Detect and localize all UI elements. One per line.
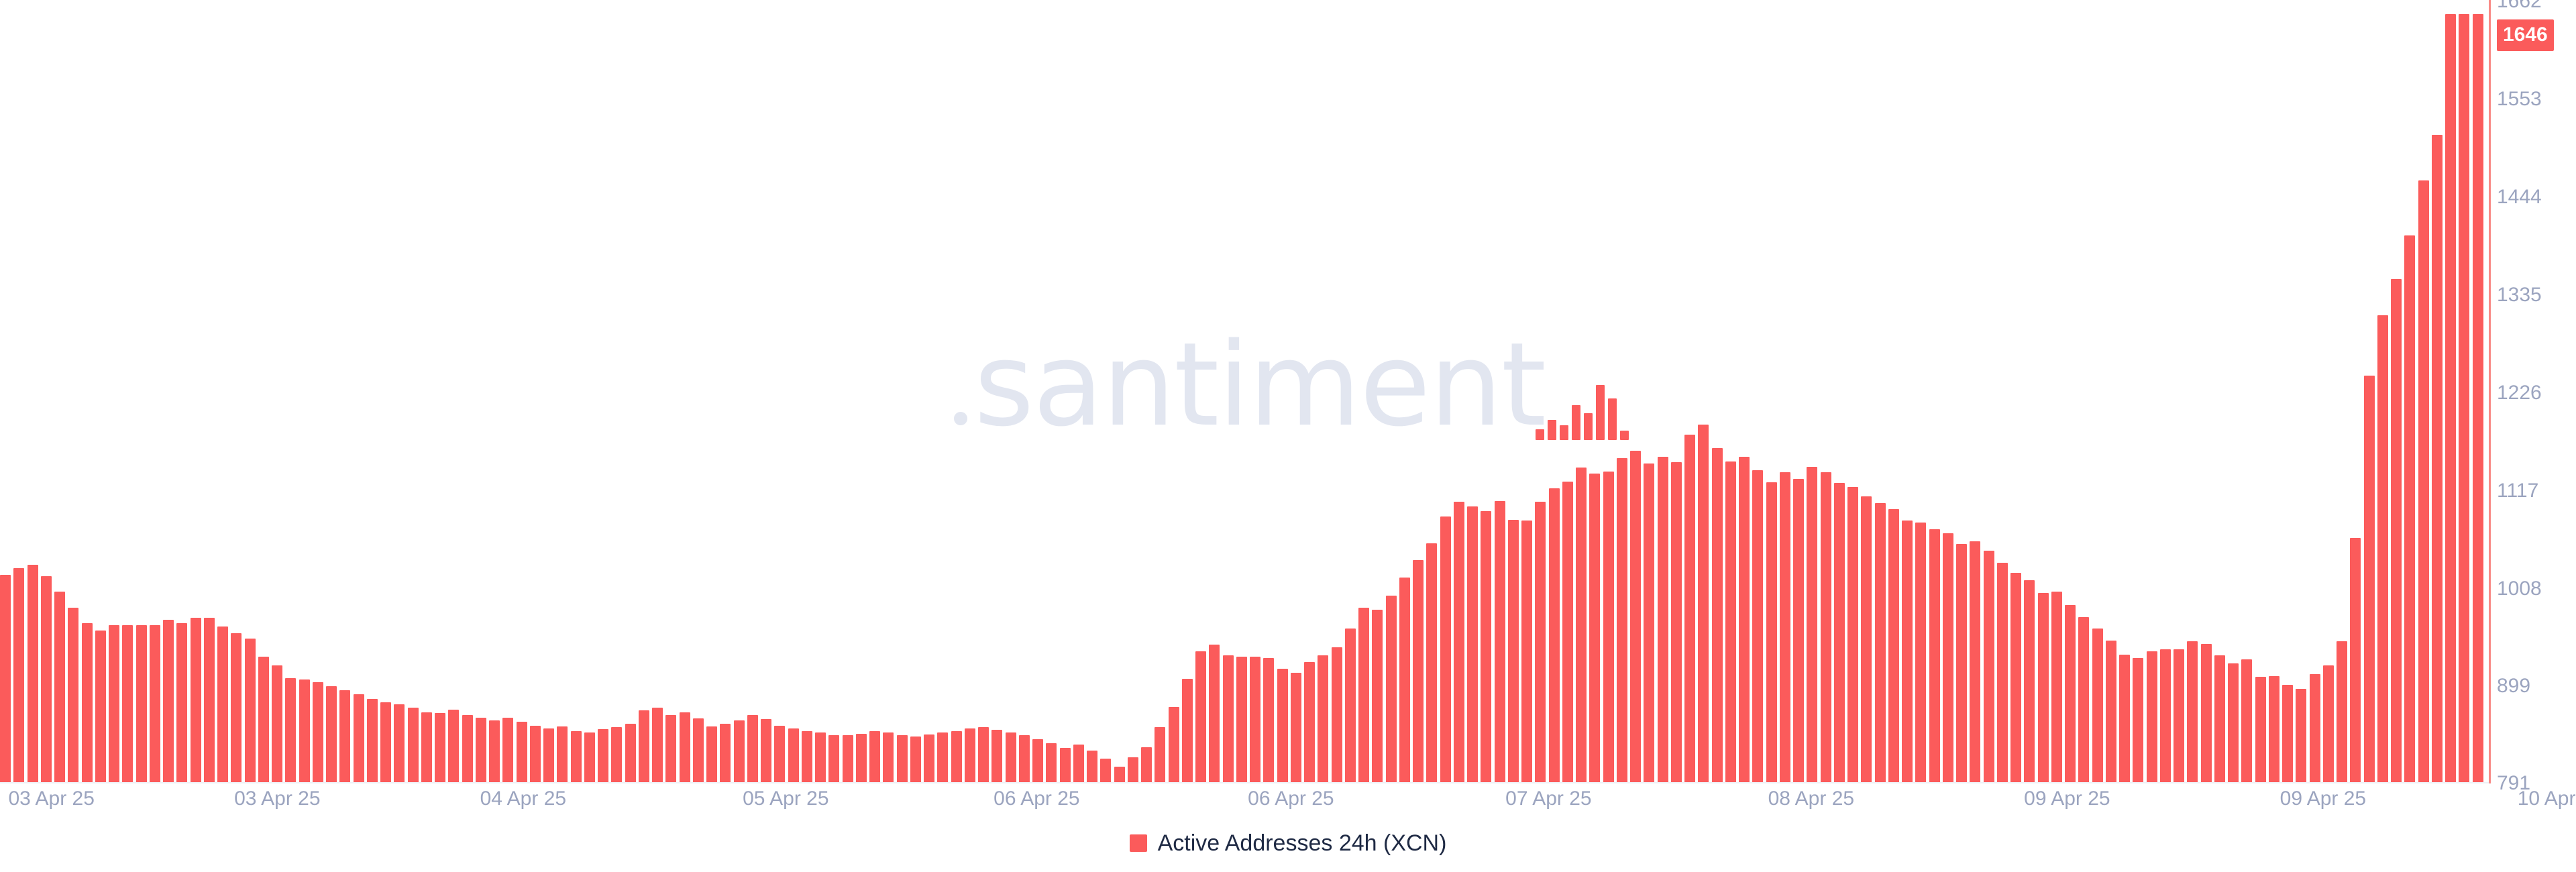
bar[interactable]	[448, 710, 459, 782]
bar[interactable]	[1508, 520, 1519, 782]
bar[interactable]	[339, 690, 350, 782]
bar[interactable]	[2255, 677, 2266, 782]
bar[interactable]	[1318, 655, 1328, 782]
bar[interactable]	[2459, 14, 2469, 782]
bar[interactable]	[2241, 659, 2252, 782]
bar[interactable]	[991, 730, 1002, 782]
bar[interactable]	[2201, 644, 2212, 782]
bar[interactable]	[1155, 727, 1165, 782]
bar[interactable]	[897, 735, 908, 782]
bar[interactable]	[1236, 657, 1247, 782]
bar[interactable]	[489, 720, 500, 782]
bar[interactable]	[761, 719, 771, 782]
bar[interactable]	[1875, 503, 1886, 782]
bar[interactable]	[299, 679, 310, 782]
bar[interactable]	[1984, 551, 1994, 782]
bar[interactable]	[978, 727, 989, 782]
bar[interactable]	[2038, 593, 2049, 782]
bar[interactable]	[204, 618, 215, 782]
bar[interactable]	[408, 708, 419, 782]
bar[interactable]	[1141, 747, 1152, 782]
bar[interactable]	[1032, 739, 1043, 782]
bar[interactable]	[476, 718, 486, 782]
bar[interactable]	[720, 724, 731, 782]
bar[interactable]	[828, 735, 839, 782]
plot-area: santiment	[0, 0, 2489, 782]
bar[interactable]	[1087, 751, 1097, 782]
bar[interactable]	[1766, 482, 1777, 782]
bar[interactable]	[1535, 502, 1546, 782]
bar[interactable]	[1467, 506, 1478, 782]
bar[interactable]	[1440, 516, 1451, 782]
bar[interactable]	[1073, 745, 1084, 782]
bar[interactable]	[1006, 732, 1016, 782]
x-axis-tick: 09 Apr 25	[2024, 789, 2110, 809]
bar[interactable]	[1223, 655, 1234, 782]
bar[interactable]	[1739, 457, 1750, 782]
bar[interactable]	[1209, 645, 1220, 782]
bar[interactable]	[394, 704, 405, 782]
bar[interactable]	[815, 732, 826, 782]
bar[interactable]	[693, 718, 704, 782]
bar[interactable]	[2228, 663, 2239, 782]
bar[interactable]	[1358, 608, 1369, 782]
bar[interactable]	[2377, 315, 2388, 782]
bar[interactable]	[584, 732, 595, 782]
bar[interactable]	[2160, 649, 2171, 782]
bar[interactable]	[1250, 657, 1260, 782]
bar[interactable]	[1793, 479, 1804, 782]
x-axis-tick: 10 Apr 25	[2518, 789, 2576, 809]
bar[interactable]	[924, 734, 934, 782]
bar[interactable]	[1169, 707, 1179, 782]
bar[interactable]	[380, 702, 391, 782]
bar[interactable]	[1603, 472, 1614, 782]
bar[interactable]	[1481, 511, 1491, 782]
bar[interactable]	[598, 729, 608, 782]
x-axis-tick-labels: 03 Apr 2503 Apr 2504 Apr 2505 Apr 2506 A…	[0, 789, 2576, 818]
bar[interactable]	[1684, 435, 1695, 782]
bar[interactable]	[680, 712, 690, 782]
bar[interactable]	[517, 722, 527, 782]
bar[interactable]	[747, 715, 758, 782]
bar[interactable]	[1454, 502, 1464, 782]
y-axis-tick: 1117	[2497, 481, 2538, 501]
bar[interactable]	[421, 712, 432, 782]
bar[interactable]	[2337, 641, 2347, 782]
bar[interactable]	[2296, 689, 2306, 782]
bar[interactable]	[1332, 647, 1342, 782]
bar[interactable]	[1182, 679, 1193, 782]
bar[interactable]	[285, 678, 296, 782]
bar[interactable]	[1495, 501, 1505, 782]
y-axis-tick-labels: 79189910081117122613351444155316621646	[2497, 0, 2576, 783]
bar[interactable]	[1617, 458, 1627, 782]
bar[interactable]	[2323, 665, 2334, 782]
legend-color-swatch-icon	[1130, 834, 1147, 852]
bar[interactable]	[122, 625, 133, 782]
bar[interactable]	[1576, 468, 1587, 782]
bar[interactable]	[1780, 472, 1790, 782]
bar[interactable]	[1426, 543, 1437, 782]
bar[interactable]	[1372, 610, 1383, 782]
bar[interactable]	[665, 715, 676, 782]
bar[interactable]	[937, 732, 948, 782]
bar[interactable]	[734, 720, 745, 782]
bar[interactable]	[1902, 521, 1913, 782]
bar[interactable]	[82, 623, 93, 782]
x-axis-tick: 04 Apr 25	[480, 789, 566, 809]
bar[interactable]	[41, 576, 52, 782]
bar[interactable]	[54, 592, 65, 782]
bar[interactable]	[1277, 669, 1288, 782]
bar[interactable]	[109, 625, 119, 782]
bar[interactable]	[1386, 596, 1397, 782]
bar[interactable]	[2404, 235, 2415, 782]
bar[interactable]	[136, 625, 147, 782]
y-axis-tick: 1008	[2497, 579, 2542, 599]
bar[interactable]	[1291, 673, 1301, 782]
bar[interactable]	[313, 682, 323, 782]
bar[interactable]	[2445, 14, 2456, 782]
bar[interactable]	[1019, 735, 1030, 782]
chart-root: santiment 791899100811171226133514441553…	[0, 0, 2576, 872]
bar[interactable]	[2473, 14, 2483, 782]
x-axis-tick: 05 Apr 25	[743, 789, 828, 809]
bar[interactable]	[1970, 541, 1980, 782]
bar[interactable]	[1915, 523, 1926, 782]
bar[interactable]	[802, 731, 812, 782]
bar[interactable]	[1521, 521, 1532, 782]
bar[interactable]	[1128, 757, 1138, 782]
bar[interactable]	[611, 727, 622, 782]
bar[interactable]	[191, 618, 201, 782]
bar[interactable]	[1345, 629, 1356, 782]
bar[interactable]	[1589, 474, 1600, 783]
legend-item-label: Active Addresses 24h (XCN)	[1158, 832, 1447, 855]
bar[interactable]	[1997, 563, 2008, 782]
bar[interactable]	[1943, 533, 1953, 782]
bar[interactable]	[1413, 560, 1424, 782]
bar[interactable]	[910, 737, 921, 782]
bar[interactable]	[1658, 457, 1668, 782]
bar[interactable]	[856, 734, 867, 782]
bar[interactable]	[163, 620, 174, 782]
bar[interactable]	[367, 699, 378, 783]
bar[interactable]	[2065, 605, 2076, 782]
bar[interactable]	[652, 708, 663, 782]
bar[interactable]	[2391, 279, 2402, 782]
bar[interactable]	[28, 565, 38, 782]
bar[interactable]	[2078, 617, 2089, 782]
bar[interactable]	[2310, 674, 2320, 782]
bar[interactable]	[272, 665, 282, 782]
bar[interactable]	[435, 713, 445, 782]
bar[interactable]	[2418, 180, 2429, 782]
bar[interactable]	[883, 732, 894, 782]
bar[interactable]	[1046, 743, 1057, 782]
bar[interactable]	[354, 694, 364, 782]
bar[interactable]	[951, 731, 962, 782]
bar[interactable]	[1562, 482, 1573, 782]
bar[interactable]	[2269, 676, 2279, 782]
bar[interactable]	[2051, 592, 2062, 782]
x-axis-tick: 06 Apr 25	[994, 789, 1079, 809]
bar-series-active-addresses-24h[interactable]	[0, 0, 2489, 782]
bar[interactable]	[965, 728, 975, 782]
y-axis-tick: 1662	[2497, 0, 2542, 11]
bar[interactable]	[2119, 655, 2130, 782]
bar[interactable]	[258, 657, 269, 782]
bar[interactable]	[1549, 488, 1560, 782]
y-axis-tick: 1335	[2497, 285, 2542, 305]
bar[interactable]	[1821, 472, 1831, 782]
bar[interactable]	[1888, 509, 1899, 782]
x-axis-tick: 09 Apr 25	[2280, 789, 2366, 809]
bar[interactable]	[1834, 483, 1845, 782]
bar[interactable]	[2282, 685, 2293, 782]
bar[interactable]	[2364, 376, 2375, 782]
bar[interactable]	[1956, 544, 1967, 782]
bar[interactable]	[176, 623, 187, 782]
chart-legend: Active Addresses 24h (XCN)	[0, 832, 2576, 855]
last-value-badge: 1646	[2497, 19, 2554, 51]
x-axis-line	[0, 782, 2489, 783]
bar[interactable]	[1712, 448, 1723, 782]
bar[interactable]	[2350, 538, 2361, 782]
bar[interactable]	[326, 686, 337, 782]
bar[interactable]	[1630, 451, 1641, 782]
bar[interactable]	[150, 625, 160, 782]
bar[interactable]	[245, 639, 256, 782]
bar[interactable]	[13, 568, 24, 782]
bar[interactable]	[1807, 467, 1817, 782]
bar[interactable]	[2214, 655, 2225, 782]
x-axis-tick: 07 Apr 25	[1505, 789, 1591, 809]
bar[interactable]	[530, 726, 541, 782]
bar[interactable]	[95, 631, 106, 782]
bar[interactable]	[843, 735, 853, 782]
x-axis-tick: 08 Apr 25	[1768, 789, 1854, 809]
x-axis-tick: 03 Apr 25	[8, 789, 94, 809]
bar[interactable]	[571, 731, 582, 782]
bar[interactable]	[2187, 641, 2198, 782]
bar[interactable]	[1698, 425, 1709, 782]
x-axis-tick: 06 Apr 25	[1248, 789, 1334, 809]
bar[interactable]	[1263, 658, 1274, 782]
bar[interactable]	[462, 715, 473, 782]
bar[interactable]	[2432, 135, 2443, 782]
bar[interactable]	[1847, 487, 1858, 782]
bar[interactable]	[1060, 748, 1071, 782]
bar[interactable]	[2092, 629, 2103, 782]
bar[interactable]	[557, 726, 568, 782]
bar[interactable]	[2106, 641, 2116, 783]
bar[interactable]	[1752, 470, 1763, 782]
bar[interactable]	[706, 726, 717, 782]
bar[interactable]	[1644, 464, 1654, 782]
bar[interactable]	[543, 728, 554, 782]
bar[interactable]	[2133, 658, 2143, 782]
x-axis-tick: 03 Apr 25	[234, 789, 320, 809]
bar[interactable]	[1114, 767, 1125, 782]
bar[interactable]	[231, 633, 241, 782]
y-axis-tick: 1226	[2497, 383, 2542, 403]
bar[interactable]	[1100, 759, 1111, 782]
bar[interactable]	[1671, 462, 1682, 782]
bar[interactable]	[625, 724, 636, 782]
legend-item-active-addresses-24h[interactable]: Active Addresses 24h (XCN)	[1130, 832, 1447, 855]
bar[interactable]	[639, 710, 649, 782]
y-axis-tick: 1444	[2497, 187, 2542, 207]
bar[interactable]	[1195, 651, 1206, 782]
y-axis-tick: 899	[2497, 676, 2530, 696]
bar[interactable]	[788, 728, 799, 782]
bar[interactable]	[1399, 578, 1410, 782]
bar[interactable]	[2010, 573, 2021, 782]
bar[interactable]	[774, 726, 785, 782]
bar[interactable]	[2024, 580, 2035, 782]
bar[interactable]	[502, 718, 513, 782]
bar[interactable]	[869, 731, 880, 782]
bar[interactable]	[2147, 651, 2157, 782]
bar[interactable]	[1725, 461, 1736, 782]
bar[interactable]	[68, 608, 78, 782]
bar[interactable]	[2173, 649, 2184, 782]
bar[interactable]	[217, 626, 228, 782]
bar[interactable]	[0, 575, 11, 782]
y-axis-line	[2489, 0, 2491, 783]
bar[interactable]	[1861, 496, 1872, 782]
bar[interactable]	[1929, 529, 1940, 783]
bar[interactable]	[1304, 662, 1315, 782]
y-axis-tick: 1553	[2497, 89, 2542, 109]
